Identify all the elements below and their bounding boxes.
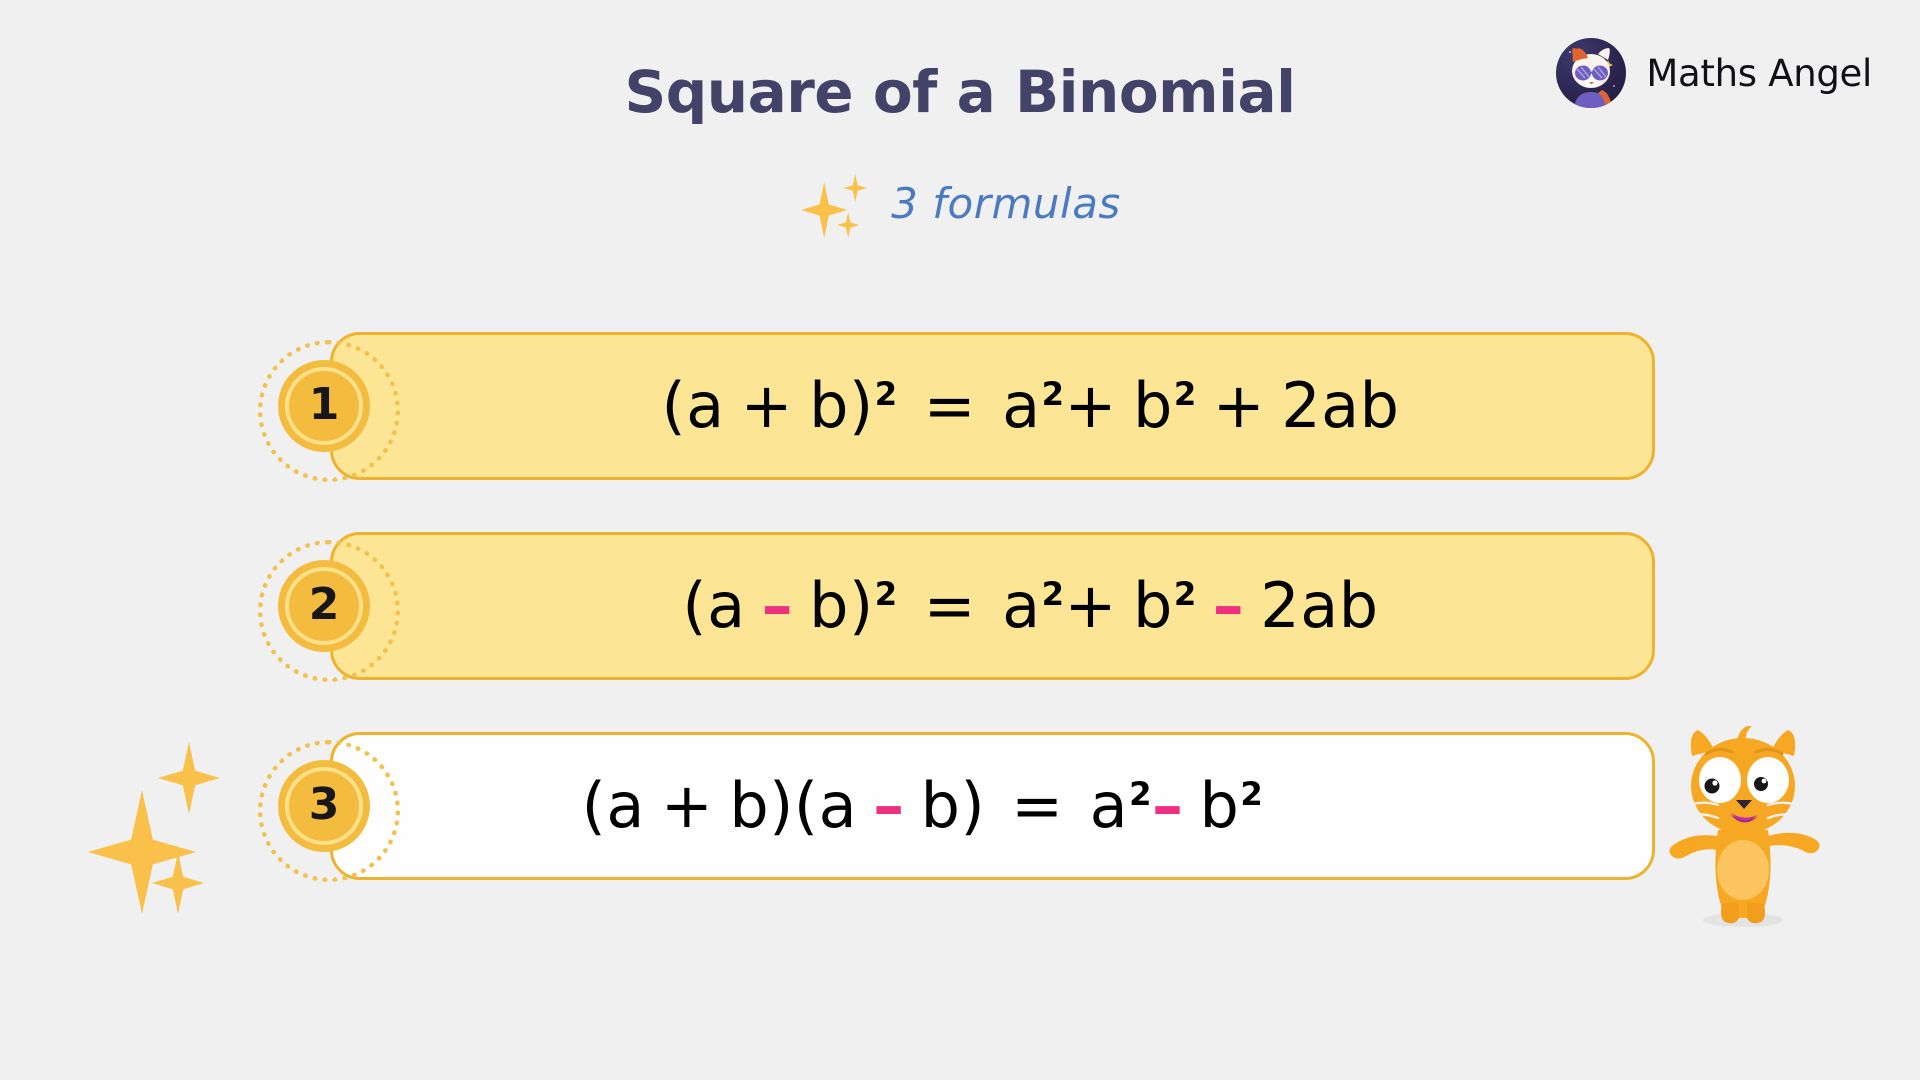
badge-circle: 2 [278,560,370,652]
term-a-2: a [819,769,858,842]
rhs-a-exponent: 2 [1042,575,1065,613]
rhs-a-exponent: 2 [1042,375,1065,413]
subtitle-text: 3 formulas [891,179,1121,228]
operator-plus: + [661,769,713,842]
rhs-a-exponent: 2 [1129,775,1152,813]
rhs-operator-1: – [1152,769,1184,842]
close-paren: ) [849,569,874,642]
operator-minus: – [873,769,905,842]
formula-badge-3[interactable]: 3 [258,740,390,872]
open-paren: ( [682,569,707,642]
formula-list: (a+b)2=a2+b2+2ab 1 (a–b)2=a2+b2–2ab 2 [0,332,1920,932]
orange-cat-mascot-icon [1648,718,1838,928]
term-a: a [686,369,725,442]
exponent: 2 [875,575,898,613]
sparkles-icon [88,742,258,922]
rhs-operator-2: + [1213,369,1265,442]
open-paren: ( [661,369,686,442]
rhs-a: a [1002,569,1041,642]
equals-sign: = [924,569,976,642]
term-a: a [606,769,645,842]
term-b: b [809,569,849,642]
rhs-a: a [1090,769,1129,842]
rhs-operator-1: + [1065,369,1117,442]
term-b: b [809,369,849,442]
formula-expression-1: (a+b)2=a2+b2+2ab [661,375,1399,437]
term-b-2: b [921,769,961,842]
rhs-last-term: 2ab [1281,369,1399,442]
badge-circle: 1 [278,360,370,452]
sparkles-icon [799,172,873,238]
formula-row-2[interactable]: (a–b)2=a2+b2–2ab 2 [0,532,1920,680]
logo-text: Maths Angel [1646,52,1872,95]
close-paren: ) [769,769,794,842]
rhs-a: a [1002,369,1041,442]
cat-astronaut-avatar-icon [1556,38,1626,108]
operator-plus: + [741,369,793,442]
rhs-b-exponent: 2 [1174,375,1197,413]
rhs-operator-1: + [1065,569,1117,642]
formula-card-2[interactable]: (a–b)2=a2+b2–2ab [330,532,1655,680]
rhs-b-exponent: 2 [1174,575,1197,613]
close-paren: ) [849,369,874,442]
badge-number: 3 [309,783,340,827]
formula-badge-1[interactable]: 1 [258,340,390,472]
badge-number: 2 [309,583,340,627]
open-paren-2: ( [794,769,819,842]
formula-row-1[interactable]: (a+b)2=a2+b2+2ab 1 [0,332,1920,480]
rhs-operator-2: – [1213,569,1245,642]
rhs-last-term: 2ab [1260,569,1378,642]
rhs-b-exponent: 2 [1240,775,1263,813]
rhs-b: b [1200,769,1240,842]
equals-sign: = [1011,769,1063,842]
brand-logo[interactable]: Maths Angel [1556,38,1872,108]
open-paren: ( [582,769,607,842]
rhs-b: b [1133,569,1173,642]
formula-card-1[interactable]: (a+b)2=a2+b2+2ab [330,332,1655,480]
close-paren-2: ) [960,769,985,842]
term-a: a [707,569,746,642]
badge-number: 1 [309,383,340,427]
formula-badge-2[interactable]: 2 [258,540,390,672]
equals-sign: = [924,369,976,442]
badge-circle: 3 [278,760,370,852]
formula-expression-3: (a+b)(a–b)=a2–b2 [582,775,1264,837]
operator-minus: – [762,569,794,642]
rhs-b: b [1133,369,1173,442]
formula-row-3[interactable]: (a+b)(a–b)=a2–b2 3 [0,732,1920,880]
exponent: 2 [875,375,898,413]
subtitle-row: 3 formulas [0,172,1920,238]
term-b: b [729,769,769,842]
formula-expression-2: (a–b)2=a2+b2–2ab [682,575,1378,637]
formula-card-3[interactable]: (a+b)(a–b)=a2–b2 [330,732,1655,880]
